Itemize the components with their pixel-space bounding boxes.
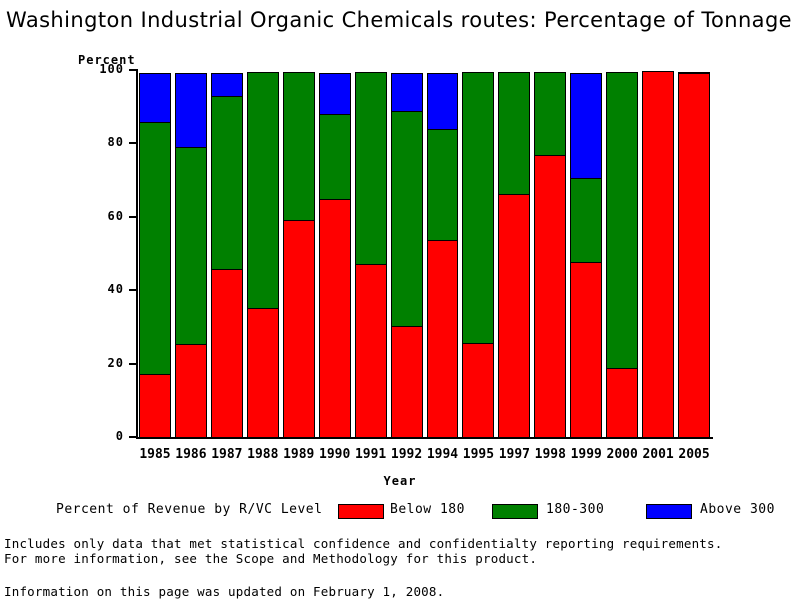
bar-segment-below-180[interactable]: [319, 199, 351, 438]
x-tick-label: 1987: [209, 447, 245, 462]
y-tick-mark: [129, 363, 137, 365]
bar-segment-180-300[interactable]: [247, 72, 279, 309]
bar-segment-below-180[interactable]: [391, 326, 423, 438]
bar-segment-below-180[interactable]: [175, 344, 207, 438]
bar-stack[interactable]: [319, 70, 351, 437]
plot-area: [137, 70, 712, 437]
bar-segment-below-180[interactable]: [606, 368, 638, 438]
x-tick-label: 1994: [425, 447, 461, 462]
legend-swatch-below180: [338, 504, 384, 519]
bar-segment-180-300[interactable]: [355, 72, 387, 265]
bar-stack[interactable]: [534, 70, 566, 437]
legend-title: Percent of Revenue by R/VC Level: [56, 502, 322, 517]
bar-stack[interactable]: [211, 70, 243, 437]
bar-segment-below-180[interactable]: [678, 73, 710, 438]
bar-segment-180-300[interactable]: [175, 147, 207, 345]
bar-segment-180-300[interactable]: [570, 178, 602, 262]
x-axis-label: Year: [0, 474, 800, 488]
bar-segment-180-300[interactable]: [462, 72, 494, 344]
bar-segment-below-180[interactable]: [355, 264, 387, 438]
x-tick-label: 1991: [353, 447, 389, 462]
bar-segment-below-180[interactable]: [427, 240, 459, 438]
bar-stack[interactable]: [498, 70, 530, 437]
y-tick-mark: [129, 69, 137, 71]
bar-segment-below-180[interactable]: [642, 71, 674, 438]
bar-stack[interactable]: [427, 70, 459, 437]
legend: Percent of Revenue by R/VC Level Below 1…: [0, 500, 800, 520]
y-tick-mark: [129, 216, 137, 218]
x-tick-label: 1997: [496, 447, 532, 462]
bar-stack[interactable]: [678, 70, 710, 437]
bar-segment-below-180[interactable]: [498, 194, 530, 438]
x-tick-label: 2005: [676, 447, 712, 462]
x-tick-label: 1985: [137, 447, 173, 462]
x-tick-label: 1989: [281, 447, 317, 462]
bar-segment-above-300[interactable]: [139, 73, 171, 123]
bar-segment-above-300[interactable]: [319, 73, 351, 115]
bar-segment-180-300[interactable]: [606, 72, 638, 369]
y-tick-label: 60: [64, 209, 124, 223]
legend-swatch-mid180300: [492, 504, 538, 519]
y-tick-label: 100: [64, 62, 124, 76]
bar-segment-above-300[interactable]: [211, 73, 243, 97]
legend-swatch-above300: [646, 504, 692, 519]
bar-segment-below-180[interactable]: [462, 343, 494, 438]
bar-segment-above-300[interactable]: [391, 73, 423, 112]
bar-stack[interactable]: [283, 70, 315, 437]
bar-segment-below-180[interactable]: [534, 155, 566, 438]
bar-segment-180-300[interactable]: [498, 72, 530, 195]
x-tick-label: 2001: [640, 447, 676, 462]
x-tick-label: 1990: [317, 447, 353, 462]
bar-segment-above-300[interactable]: [427, 73, 459, 130]
bar-segment-180-300[interactable]: [391, 111, 423, 328]
bar-segment-180-300[interactable]: [211, 96, 243, 270]
y-tick-mark: [129, 142, 137, 144]
bar-stack[interactable]: [247, 70, 279, 437]
page-title: Washington Industrial Organic Chemicals …: [6, 8, 792, 32]
bar-stack[interactable]: [570, 70, 602, 437]
bar-stack[interactable]: [462, 70, 494, 437]
bar-segment-above-300[interactable]: [570, 73, 602, 179]
bar-segment-180-300[interactable]: [283, 72, 315, 221]
y-tick-mark: [129, 289, 137, 291]
bar-segment-below-180[interactable]: [247, 308, 279, 438]
x-tick-label: 2000: [604, 447, 640, 462]
bar-segment-180-300[interactable]: [427, 129, 459, 241]
bar-segment-below-180[interactable]: [139, 374, 171, 438]
footnote-text: Includes only data that met statistical …: [4, 536, 722, 566]
y-tick-label: 20: [64, 356, 124, 370]
bar-stack[interactable]: [606, 70, 638, 437]
bar-segment-above-300[interactable]: [175, 73, 207, 148]
x-tick-label: 1992: [389, 447, 425, 462]
bar-segment-below-180[interactable]: [211, 269, 243, 438]
x-tick-label: 1986: [173, 447, 209, 462]
bar-stack[interactable]: [391, 70, 423, 437]
bar-segment-below-180[interactable]: [283, 220, 315, 438]
x-tick-label: 1999: [568, 447, 604, 462]
bar-stack[interactable]: [355, 70, 387, 437]
x-tick-label: 1995: [460, 447, 496, 462]
bar-segment-180-300[interactable]: [139, 122, 171, 375]
x-tick-label: 1988: [245, 447, 281, 462]
bar-stack[interactable]: [642, 70, 674, 437]
y-tick-label: 0: [64, 429, 124, 443]
bar-segment-below-180[interactable]: [570, 262, 602, 438]
legend-label-below180: Below 180: [390, 502, 465, 517]
x-tick-label: 1998: [532, 447, 568, 462]
y-tick-mark: [129, 436, 137, 438]
bar-stack[interactable]: [175, 70, 207, 437]
updated-text: Information on this page was updated on …: [4, 584, 444, 599]
bar-segment-180-300[interactable]: [534, 72, 566, 156]
y-tick-label: 40: [64, 282, 124, 296]
bar-segment-180-300[interactable]: [319, 114, 351, 200]
legend-label-mid180300: 180-300: [546, 502, 604, 517]
bar-stack[interactable]: [139, 70, 171, 437]
y-tick-label: 80: [64, 135, 124, 149]
legend-label-above300: Above 300: [700, 502, 775, 517]
